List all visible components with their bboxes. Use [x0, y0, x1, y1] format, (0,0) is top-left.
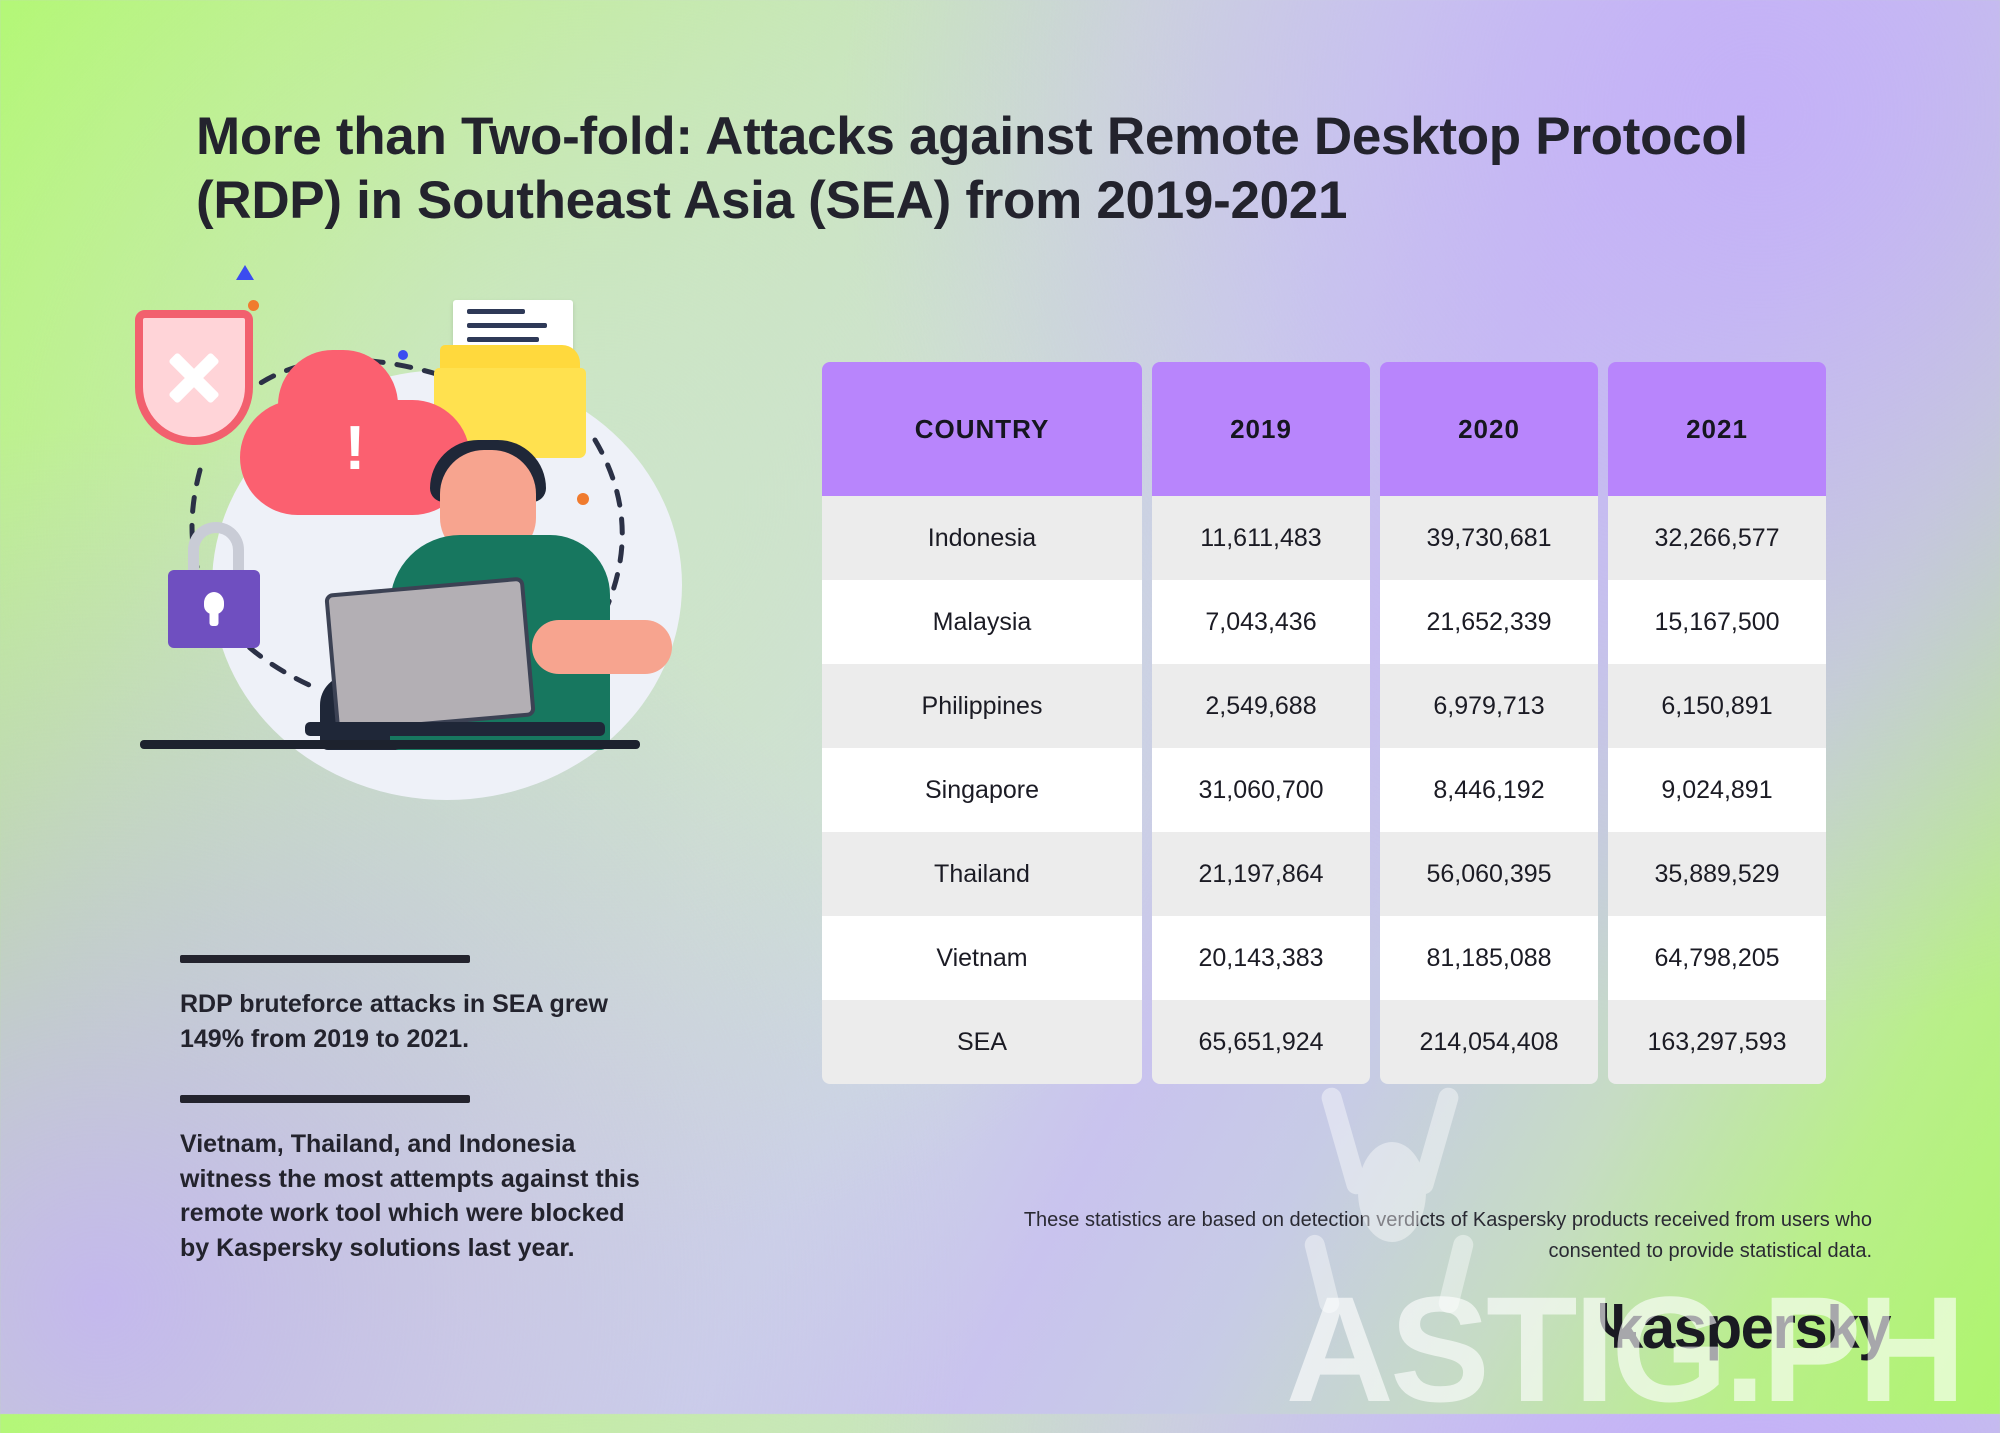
desk-line — [140, 740, 640, 749]
hero-illustration: ! — [140, 290, 800, 930]
table-cell-value: 7,043,436 — [1152, 580, 1370, 664]
note-text: RDP bruteforce attacks in SEA grew 149% … — [180, 987, 660, 1056]
table-cell-value: 20,143,383 — [1152, 916, 1370, 1000]
padlock-icon — [168, 570, 260, 648]
table-column-2021: 2021 32,266,577 15,167,500 6,150,891 9,0… — [1608, 362, 1826, 1084]
table-cell-value: 163,297,593 — [1608, 1000, 1826, 1084]
table-cell-value: 64,798,205 — [1608, 916, 1826, 1000]
table-cell-country: Thailand — [822, 832, 1142, 916]
table-cell-value: 2,549,688 — [1152, 664, 1370, 748]
table-cell-country: Malaysia — [822, 580, 1142, 664]
table-cell-country: Indonesia — [822, 496, 1142, 580]
note-text: Vietnam, Thailand, and Indonesia witness… — [180, 1127, 660, 1265]
confetti-dot — [248, 300, 259, 311]
shield-alert-icon — [135, 310, 253, 445]
laptop-icon — [324, 577, 535, 734]
table-cell-country: Singapore — [822, 748, 1142, 832]
note-top-countries: Vietnam, Thailand, and Indonesia witness… — [180, 1095, 660, 1265]
table-cell-value: 21,197,864 — [1152, 832, 1370, 916]
page-title: More than Two-fold: Attacks against Remo… — [196, 105, 1836, 232]
table-column-country: COUNTRY Indonesia Malaysia Philippines S… — [822, 362, 1142, 1084]
table-cell-value: 39,730,681 — [1380, 496, 1598, 580]
table-cell-country: Vietnam — [822, 916, 1142, 1000]
table-cell-value: 81,185,088 — [1380, 916, 1598, 1000]
table-column-2020: 2020 39,730,681 21,652,339 6,979,713 8,4… — [1380, 362, 1598, 1084]
table-cell-value: 65,651,924 — [1152, 1000, 1370, 1084]
table-cell-value: 8,446,192 — [1380, 748, 1598, 832]
column-header-country: COUNTRY — [822, 362, 1142, 496]
column-header-2020: 2020 — [1380, 362, 1598, 496]
table-cell-value: 9,024,891 — [1608, 748, 1826, 832]
table-cell-country: Philippines — [822, 664, 1142, 748]
table-cell-value: 214,054,408 — [1380, 1000, 1598, 1084]
table-cell-value: 35,889,529 — [1608, 832, 1826, 916]
table-cell-value: 15,167,500 — [1608, 580, 1826, 664]
confetti-dot — [577, 493, 589, 505]
table-cell-country: SEA — [822, 1000, 1142, 1084]
column-header-2019: 2019 — [1152, 362, 1370, 496]
table-cell-value: 11,611,483 — [1152, 496, 1370, 580]
rdp-attacks-table: COUNTRY Indonesia Malaysia Philippines S… — [822, 362, 1826, 1084]
table-cell-value: 31,060,700 — [1152, 748, 1370, 832]
laptop-base — [305, 722, 605, 736]
note-rule — [180, 1095, 470, 1103]
person-arm — [532, 620, 672, 674]
table-column-2019: 2019 11,611,483 7,043,436 2,549,688 31,0… — [1152, 362, 1370, 1084]
exclamation-glyph: ! — [345, 418, 366, 480]
table-cell-value: 32,266,577 — [1608, 496, 1826, 580]
column-header-2021: 2021 — [1608, 362, 1826, 496]
note-rule — [180, 955, 470, 963]
note-growth: RDP bruteforce attacks in SEA grew 149% … — [180, 955, 660, 1056]
table-cell-value: 6,150,891 — [1608, 664, 1826, 748]
confetti-triangle — [236, 265, 254, 280]
astig-ph-watermark: ASTIG.PH — [1286, 1274, 1962, 1424]
table-cell-value: 21,652,339 — [1380, 580, 1598, 664]
confetti-dot — [398, 350, 408, 360]
table-cell-value: 56,060,395 — [1380, 832, 1598, 916]
table-cell-value: 6,979,713 — [1380, 664, 1598, 748]
